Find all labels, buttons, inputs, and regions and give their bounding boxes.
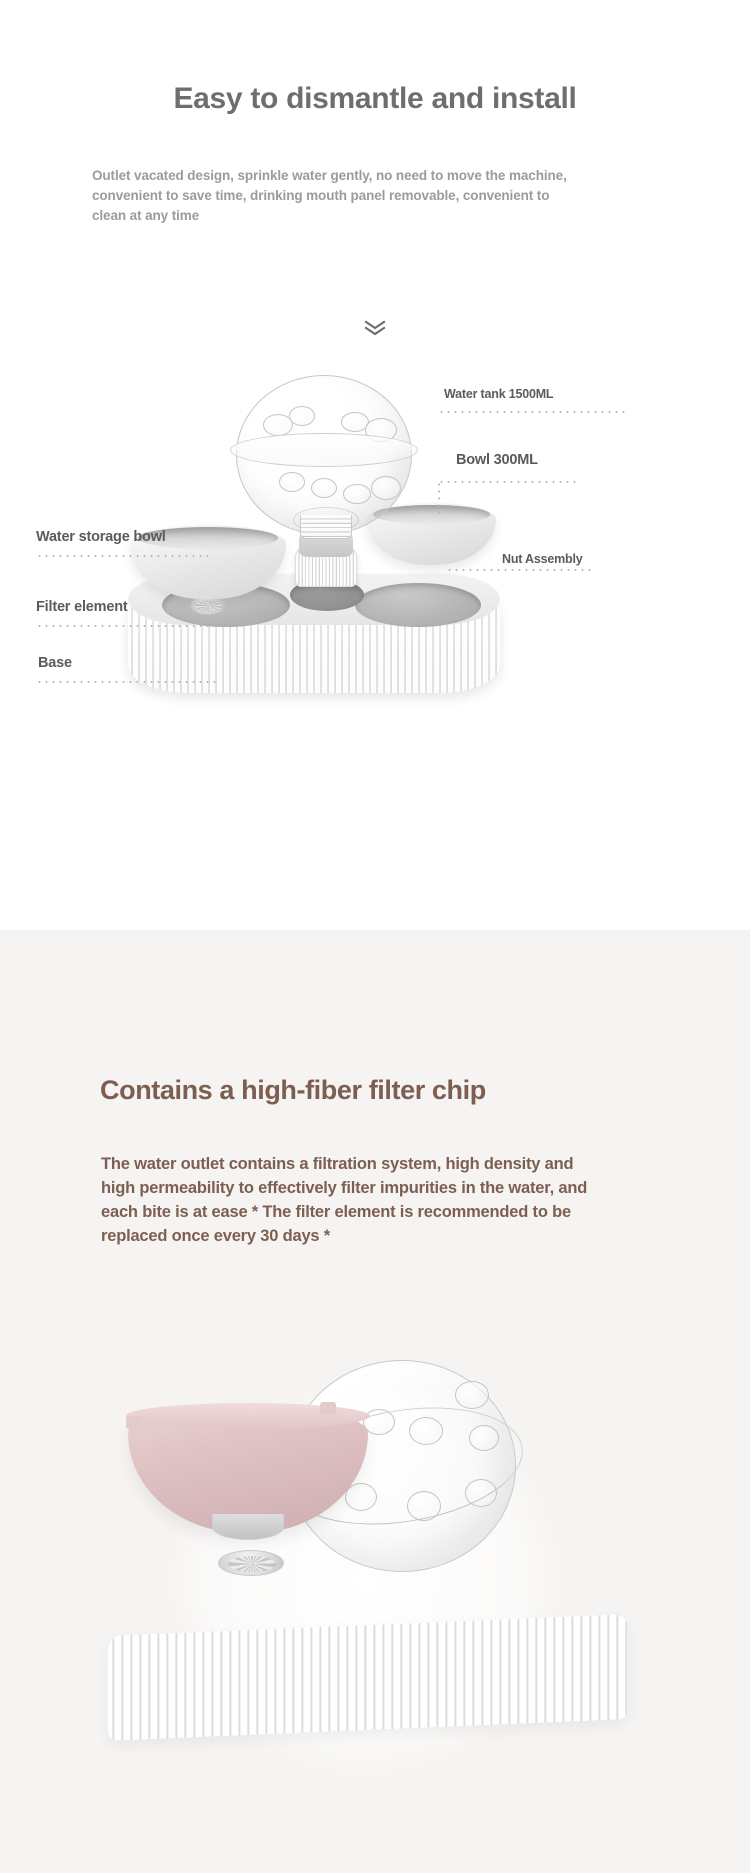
leader-line-bowl [438, 481, 578, 483]
hero-bowl-tab-right [320, 1402, 336, 1415]
sphere-dimple [343, 484, 371, 504]
hero-filter-chip [218, 1550, 284, 1576]
leader-line-base [36, 681, 216, 683]
section-two-title: Contains a high-fiber filter chip [100, 1075, 486, 1106]
sphere-dimple [311, 478, 337, 498]
label-bowl: Bowl 300ML [456, 452, 538, 468]
food-bowl-part [366, 503, 496, 565]
label-water-tank: Water tank 1500ML [444, 387, 553, 401]
label-water-storage-bowl: Water storage bowl [36, 529, 166, 545]
leader-line-nut [446, 569, 592, 571]
section-two-body: The water outlet contains a filtration s… [101, 1152, 611, 1248]
section-one-title: Easy to dismantle and install [0, 82, 750, 116]
label-filter-element: Filter element [36, 599, 127, 615]
product-detail-page: Easy to dismantle and install Outlet vac… [0, 0, 750, 1873]
leader-line-storage-bowl [36, 555, 208, 557]
sphere-dimple [455, 1381, 489, 1409]
sphere-dimple [289, 406, 315, 426]
sphere-dimple [371, 476, 401, 500]
hero-water-outlet [212, 1514, 284, 1540]
water-tank-handle-ring [230, 433, 418, 467]
filter-hero-photo [0, 1350, 750, 1873]
hero-bowl-tab-left [126, 1416, 142, 1429]
leader-line-water-tank [438, 411, 628, 413]
sphere-dimple [279, 472, 305, 492]
exploded-product-diagram: Water tank 1500ML Bowl 300ML Nut Assembl… [0, 355, 750, 755]
section-high-fiber-filter: Contains a high-fiber filter chip The wa… [0, 930, 750, 1873]
leader-line-bowl-vertical [438, 481, 440, 515]
section-one-subtitle: Outlet vacated design, sprinkle water ge… [92, 166, 572, 226]
base-well-right [355, 583, 481, 627]
hero-ribbed-base [108, 1614, 628, 1741]
hero-base-ribbed-texture [108, 1614, 628, 1741]
water-tank-neck [300, 515, 352, 539]
leader-line-filter [36, 625, 236, 627]
double-chevron-down-icon [355, 314, 395, 344]
label-nut-assembly: Nut Assembly [502, 552, 583, 566]
label-base: Base [38, 655, 72, 671]
section-dismantle-install: Easy to dismantle and install Outlet vac… [0, 0, 750, 930]
